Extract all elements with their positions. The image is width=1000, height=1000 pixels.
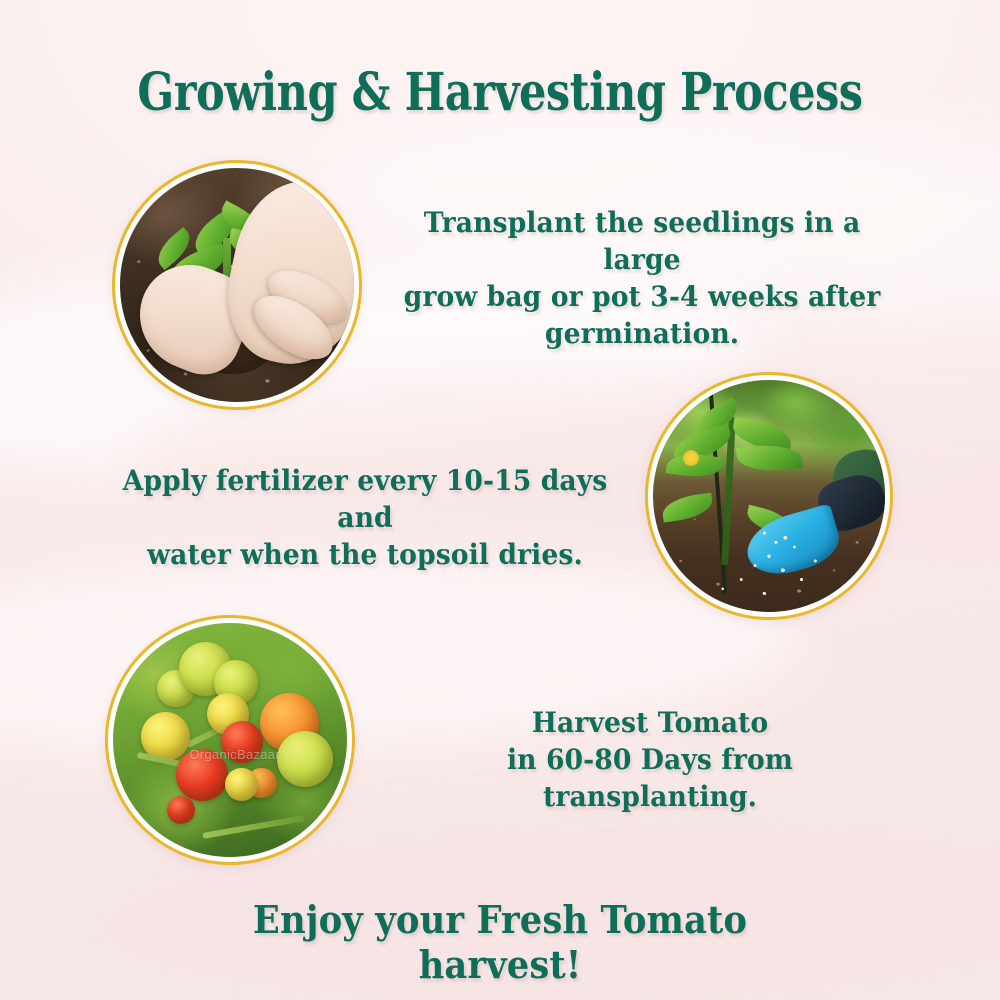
step-1-photo-seedling-planting	[120, 168, 354, 402]
tomato-fruit	[225, 768, 258, 801]
closing-message: Enjoy your Fresh Tomato harvest!	[35, 898, 965, 988]
step-1-photo-circle	[112, 160, 362, 410]
image-watermark: OrganicBazaar	[174, 747, 296, 762]
fertilizer-granules	[653, 380, 885, 612]
infographic-poster: Growing & Harvesting Process Transplant …	[0, 0, 1000, 1000]
step-2-caption: Apply fertilizer every 10-15 days and wa…	[109, 463, 622, 574]
step-2-photo-circle	[645, 372, 893, 620]
step-2-photo-fertilizing	[653, 380, 885, 612]
step-1-caption: Transplant the seedlings in a large grow…	[395, 205, 889, 353]
step-3-caption: Harvest Tomato in 60-80 Days from transp…	[408, 705, 893, 816]
page-title: Growing & Harvesting Process	[40, 62, 960, 123]
step-3-photo-tomato-harvest: OrganicBazaar	[113, 623, 347, 857]
step-3-photo-circle: OrganicBazaar	[105, 615, 355, 865]
tomato-fruit	[167, 796, 195, 824]
